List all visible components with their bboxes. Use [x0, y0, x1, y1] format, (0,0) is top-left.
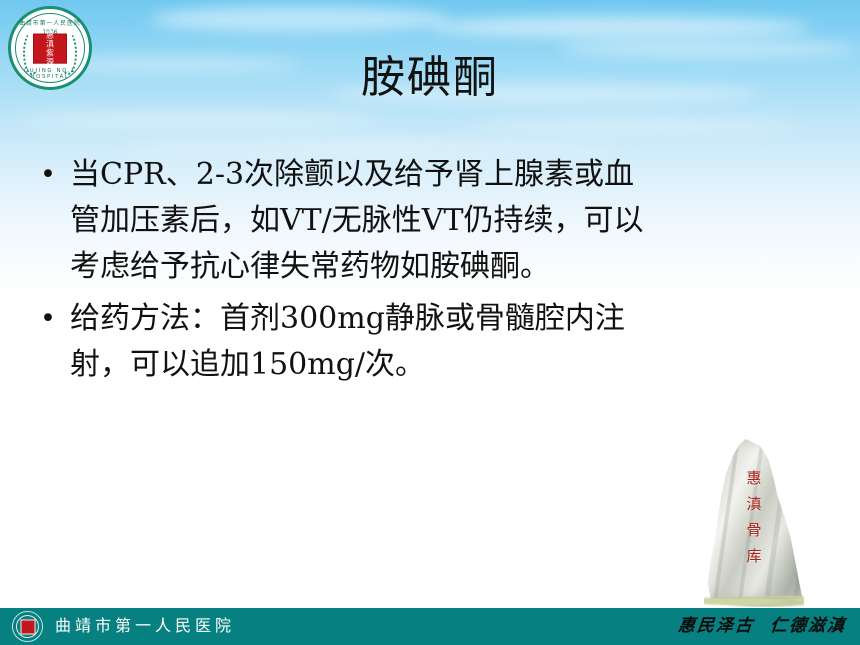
- cloud-shape: [150, 6, 450, 32]
- page-title: 胺碘酮: [0, 52, 860, 104]
- slide-canvas: 曲靖市第一人民医院 1936 惠滇紫源 QUJING NO.1 HOSPITAL…: [0, 0, 860, 645]
- bullet-line: 给药方法：首剂300mg静脉或骨髓腔内注: [70, 296, 818, 342]
- footer-bar: 曲靖市第一人民医院 惠民泽古仁德滋滇: [0, 608, 860, 645]
- cloud-shape: [430, 16, 810, 38]
- bullet-marker: •: [40, 152, 70, 198]
- bullet-item: • 给药方法：首剂300mg静脉或骨髓腔内注 射，可以追加150mg/次。: [40, 296, 818, 388]
- bullet-line: 当CPR、2-3次除颤以及给予肾上腺素或血: [70, 152, 818, 198]
- stone-engraved-text: 惠滇骨库: [744, 465, 764, 569]
- footer-hospital-logo-icon: [12, 611, 43, 642]
- stone-monument-image: 惠滇骨库: [700, 439, 808, 605]
- footer-hospital-name: 曲靖市第一人民医院: [55, 616, 235, 636]
- slide-body: • 当CPR、2-3次除颤以及给予肾上腺素或血 管加压素后，如VT/无脉性VT仍…: [40, 152, 818, 394]
- cloud-shape: [470, 118, 800, 132]
- footer-logo-seal: [20, 619, 35, 634]
- bullet-item: • 当CPR、2-3次除颤以及给予肾上腺素或血 管加压素后，如VT/无脉性VT仍…: [40, 152, 818, 290]
- bullet-marker: •: [40, 296, 70, 342]
- bullet-line: 管加压素后，如VT/无脉性VT仍持续，可以: [70, 198, 818, 244]
- bullet-line: 考虑给予抗心律失常药物如胺碘酮。: [70, 244, 818, 290]
- bullet-text-block: 给药方法：首剂300mg静脉或骨髓腔内注 射，可以追加150mg/次。: [70, 296, 818, 388]
- footer-slogan-left: 惠民泽古: [677, 616, 755, 636]
- grass-shape: [704, 595, 804, 607]
- bullet-text-block: 当CPR、2-3次除颤以及给予肾上腺素或血 管加压素后，如VT/无脉性VT仍持续…: [70, 152, 818, 290]
- bullet-line: 射，可以追加150mg/次。: [70, 342, 818, 388]
- cloud-shape: [20, 112, 380, 128]
- logo-arc-top-text: 曲靖市第一人民医院: [13, 18, 87, 27]
- footer-slogan-right: 仁德滋滇: [769, 616, 847, 636]
- footer-slogan: 惠民泽古仁德滋滇: [677, 613, 848, 639]
